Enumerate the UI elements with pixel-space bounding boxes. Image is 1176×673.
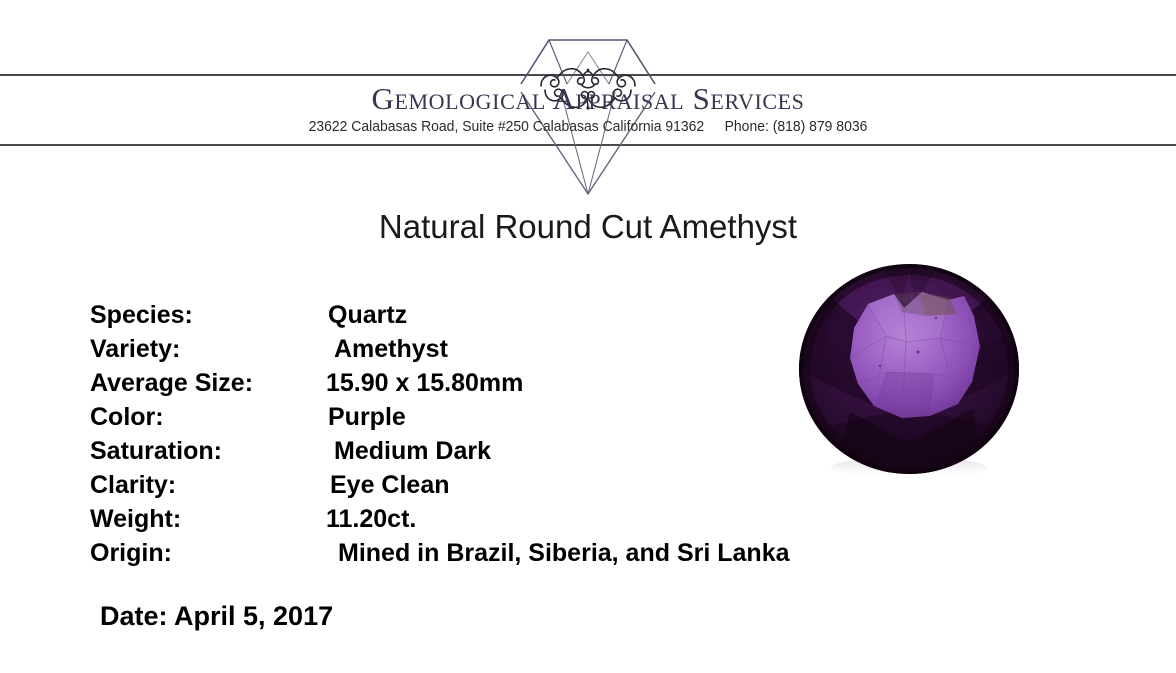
- spec-label: Average Size:: [90, 367, 253, 400]
- spec-value: Eye Clean: [330, 469, 450, 502]
- spec-value: Amethyst: [334, 333, 448, 366]
- spec-label: Origin:: [90, 537, 172, 570]
- spec-row: Weight: 11.20ct.: [90, 503, 890, 537]
- spec-row: Color: Purple: [90, 401, 890, 435]
- company-address-line: 23622 Calabasas Road, Suite #250 Calabas…: [41, 118, 1135, 136]
- spec-label: Clarity:: [90, 469, 176, 502]
- gem-specification-list: Species: Quartz Variety: Amethyst Averag…: [90, 299, 890, 571]
- appraisal-certificate-page: Gemological Appraisal Services 23622 Cal…: [0, 0, 1176, 673]
- spec-label: Species:: [90, 299, 193, 332]
- spec-value: Purple: [328, 401, 406, 434]
- spec-value: Mined in Brazil, Siberia, and Sri Lanka: [338, 537, 790, 570]
- spec-label: Saturation:: [90, 435, 222, 468]
- spec-value: Quartz: [328, 299, 407, 332]
- spec-label: Color:: [90, 401, 164, 434]
- spec-value: 15.90 x 15.80mm: [326, 367, 523, 400]
- spec-row: Saturation: Medium Dark: [90, 435, 890, 469]
- appraisal-date: Date: April 5, 2017: [100, 599, 333, 633]
- spec-label: Weight:: [90, 503, 181, 536]
- spec-row: Average Size: 15.90 x 15.80mm: [90, 367, 890, 401]
- diamond-gem-logo-icon: [463, 26, 713, 206]
- spec-value: Medium Dark: [334, 435, 491, 468]
- spec-label: Variety:: [90, 333, 180, 366]
- spec-row: Species: Quartz: [90, 299, 890, 333]
- phone-text: Phone: (818) 879 8036: [725, 118, 868, 135]
- page-title: Natural Round Cut Amethyst: [0, 206, 1176, 248]
- spec-row: Origin: Mined in Brazil, Siberia, and Sr…: [90, 537, 890, 571]
- address-text: 23622 Calabasas Road, Suite #250 Calabas…: [309, 118, 705, 135]
- company-name: Gemological Appraisal Services: [0, 82, 1176, 116]
- spec-row: Clarity: Eye Clean: [90, 469, 890, 503]
- spec-value: 11.20ct.: [326, 503, 416, 536]
- spec-row: Variety: Amethyst: [90, 333, 890, 367]
